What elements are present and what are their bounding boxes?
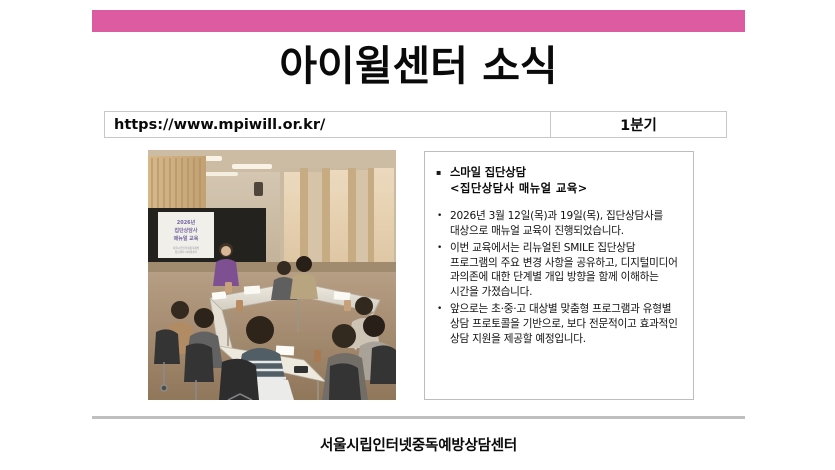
quarter-cell: 1분기: [551, 112, 726, 137]
list-item: • 2026년 3월 12일(목)과 19일(목), 집단상담사를 대상으로 매…: [435, 209, 685, 239]
heading-line-1: 스마일 집단상담: [450, 166, 526, 179]
list-item-text: 2026년 3월 12일(목)과 19일(목), 집단상담사를 대상으로 매뉴얼…: [450, 209, 685, 239]
content-heading: ▪ 스마일 집단상담 <집단상담사 매뉴얼 교육>: [435, 165, 685, 197]
header-accent-bar: [92, 10, 745, 32]
heading-line-2: <집단상담사 매뉴얼 교육>: [450, 182, 588, 195]
dot-bullet-icon: •: [435, 209, 450, 224]
list-item: • 앞으로는 초·중·고 대상별 맞춤형 프로그램과 유형별 상담 프로토콜을 …: [435, 302, 685, 346]
square-bullet-icon: ▪: [435, 165, 450, 181]
list-item-text: 앞으로는 초·중·고 대상별 맞춤형 프로그램과 유형별 상담 프로토콜을 기반…: [450, 302, 685, 346]
page-title: 아이윌센터 소식: [92, 38, 745, 96]
list-item-text: 이번 교육에서는 리뉴얼된 SMILE 집단상담 프로그램의 주요 변경 사항을…: [450, 241, 685, 300]
event-photo: 2026년 집단상담사 매뉴얼 교육 서울시립인터넷중독예방 상담센터 아이윌센…: [148, 150, 396, 400]
news-content-panel: ▪ 스마일 집단상담 <집단상담사 매뉴얼 교육> • 2026년 3월 12일…: [424, 151, 694, 400]
dot-bullet-icon: •: [435, 302, 450, 317]
footer-organization: 서울시립인터넷중독예방상담센터: [92, 434, 745, 455]
footer-divider: [92, 416, 745, 419]
info-table: https://www.mpiwill.or.kr/ 1분기: [104, 111, 727, 138]
newsletter-slide: 아이윌센터 소식 https://www.mpiwill.or.kr/ 1분기: [0, 0, 835, 470]
event-photo-illustration: 2026년 집단상담사 매뉴얼 교육 서울시립인터넷중독예방 상담센터 아이윌센…: [148, 150, 396, 400]
content-heading-text: 스마일 집단상담 <집단상담사 매뉴얼 교육>: [450, 165, 685, 197]
dot-bullet-icon: •: [435, 241, 450, 256]
list-item: • 이번 교육에서는 리뉴얼된 SMILE 집단상담 프로그램의 주요 변경 사…: [435, 241, 685, 300]
website-url-cell[interactable]: https://www.mpiwill.or.kr/: [105, 112, 551, 137]
